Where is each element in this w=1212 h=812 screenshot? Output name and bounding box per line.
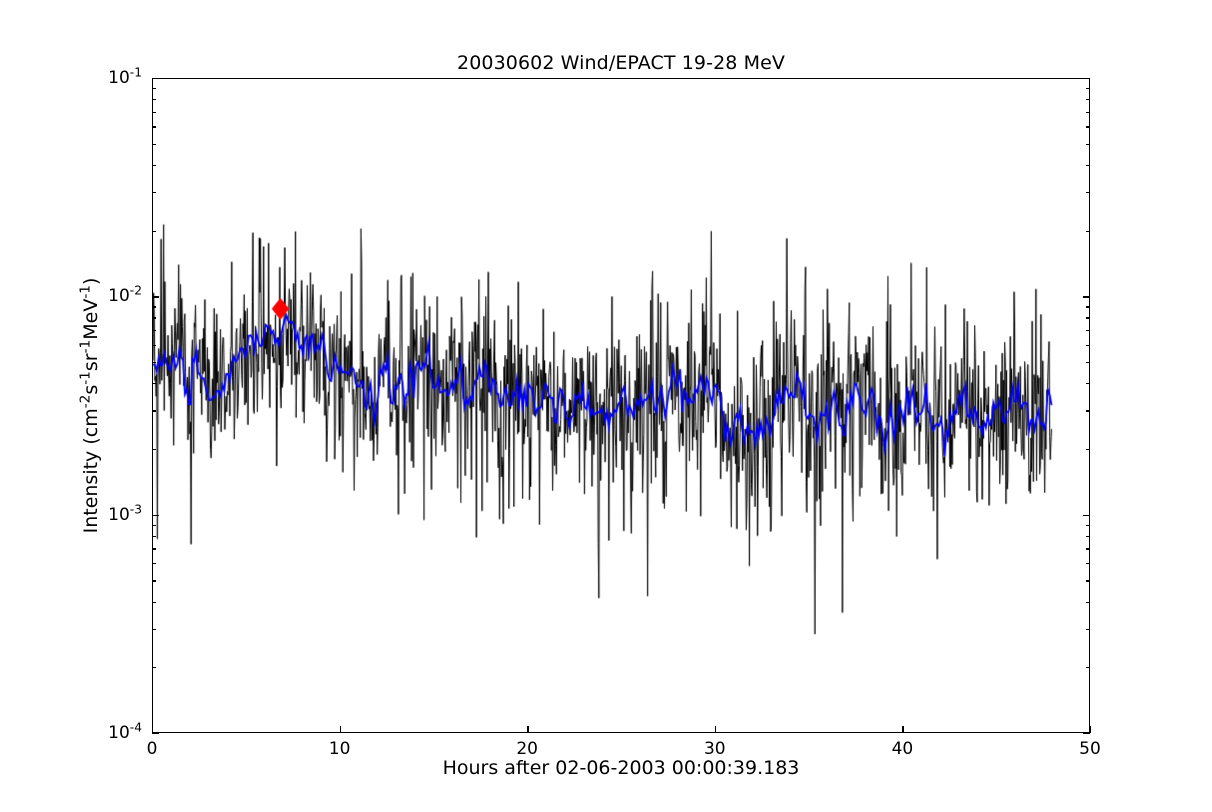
tick-mark xyxy=(1086,580,1090,581)
tick-mark xyxy=(1086,629,1090,630)
y-tick-label: 10-4 xyxy=(108,723,142,743)
plot-axes xyxy=(152,78,1090,733)
tick-mark xyxy=(1086,144,1090,145)
y-axis-label-text: Intensity (cm-2s-1sr-1MeV-1) xyxy=(80,278,102,534)
tick-mark xyxy=(152,536,156,537)
tick-mark xyxy=(1086,548,1090,549)
tick-mark xyxy=(1086,317,1090,318)
tick-mark xyxy=(1086,231,1090,232)
tick-mark xyxy=(152,383,156,384)
tick-mark xyxy=(152,126,156,127)
tick-mark xyxy=(152,330,156,331)
tick-mark xyxy=(1086,525,1090,526)
tick-mark xyxy=(152,345,156,346)
tick-mark xyxy=(152,78,159,79)
tick-mark xyxy=(1086,88,1090,89)
tick-mark xyxy=(152,165,156,166)
tick-mark xyxy=(152,525,156,526)
y-axis-label: Intensity (cm-2s-1sr-1MeV-1) xyxy=(76,78,106,733)
tick-mark xyxy=(1086,383,1090,384)
tick-mark xyxy=(1086,126,1090,127)
tick-mark xyxy=(902,726,903,733)
tick-mark xyxy=(715,726,716,733)
x-tick-label: 50 xyxy=(1079,739,1101,759)
tick-mark xyxy=(152,231,156,232)
tick-mark xyxy=(1086,345,1090,346)
tick-mark xyxy=(152,192,156,193)
x-tick-label: 40 xyxy=(892,739,914,759)
x-tick-label: 10 xyxy=(329,739,351,759)
figure-canvas: 20030602 Wind/EPACT 19-28 MeV 10-410-310… xyxy=(0,0,1212,812)
tick-mark xyxy=(1086,410,1090,411)
tick-mark xyxy=(1083,78,1090,79)
tick-mark xyxy=(152,362,156,363)
tick-mark xyxy=(1086,362,1090,363)
tick-mark xyxy=(1090,726,1091,733)
tick-mark xyxy=(152,515,159,516)
tick-mark xyxy=(1083,515,1090,516)
tick-mark xyxy=(152,410,156,411)
tick-mark xyxy=(152,296,159,297)
x-axis-label: Hours after 02-06-2003 00:00:39.183 xyxy=(152,757,1090,779)
tick-mark xyxy=(1086,192,1090,193)
tick-mark xyxy=(152,112,156,113)
tick-mark xyxy=(1083,733,1090,734)
tick-mark xyxy=(152,449,156,450)
tick-mark xyxy=(152,99,156,100)
y-tick-label: 10-1 xyxy=(108,68,142,88)
x-tick-label: 0 xyxy=(147,739,158,759)
tick-mark xyxy=(152,667,156,668)
tick-mark xyxy=(1086,99,1090,100)
tick-mark xyxy=(152,563,156,564)
tick-mark xyxy=(1086,536,1090,537)
x-tick-label: 20 xyxy=(516,739,538,759)
chart-plot-area xyxy=(153,79,1089,732)
tick-mark xyxy=(1086,112,1090,113)
tick-mark xyxy=(340,726,341,733)
tick-mark xyxy=(152,144,156,145)
tick-mark xyxy=(1086,667,1090,668)
tick-mark xyxy=(1086,602,1090,603)
tick-mark xyxy=(152,733,159,734)
tick-mark xyxy=(1083,296,1090,297)
tick-mark xyxy=(1086,449,1090,450)
tick-mark xyxy=(152,629,156,630)
tick-mark xyxy=(152,317,156,318)
tick-mark xyxy=(152,548,156,549)
tick-mark xyxy=(527,726,528,733)
tick-mark xyxy=(1086,306,1090,307)
tick-mark xyxy=(1086,563,1090,564)
tick-mark xyxy=(152,88,156,89)
tick-mark xyxy=(152,726,153,733)
tick-mark xyxy=(1086,165,1090,166)
y-tick-label: 10-2 xyxy=(108,286,142,306)
tick-mark xyxy=(152,580,156,581)
page-title: 20030602 Wind/EPACT 19-28 MeV xyxy=(152,52,1090,74)
x-tick-label: 30 xyxy=(704,739,726,759)
tick-mark xyxy=(1086,330,1090,331)
y-tick-label: 10-3 xyxy=(108,505,142,525)
tick-mark xyxy=(152,602,156,603)
tick-mark xyxy=(152,306,156,307)
